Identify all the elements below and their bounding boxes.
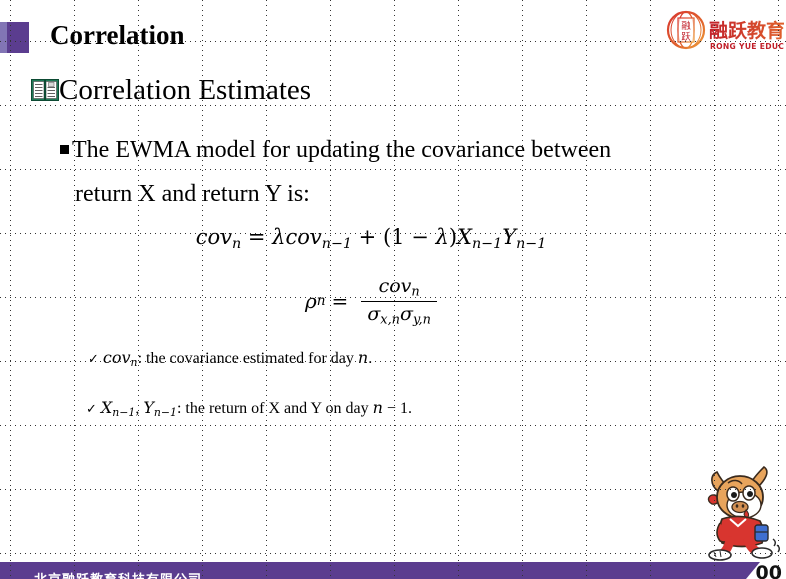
bullet-line-1: The EWMA model for updating the covarian… [60,128,760,172]
eq2-numerator: covn [373,275,426,301]
eq1-lhs-base: cov [196,225,232,249]
sub-bullet-2: ✓Xn−1, Yn−1: the return of X and Y on da… [86,398,412,419]
open-book-icon [31,78,59,102]
logo-brand-cn: 融跃教育 [709,19,784,42]
eq2-den-s2-base: σ [400,303,413,325]
sub2-symbol1-sub: n−1 [112,406,135,419]
eq1-y-base: Y [502,225,516,249]
bullet-text-line-1: The EWMA model for updating the covarian… [72,128,611,172]
eq1-equals: = [248,225,266,249]
logo-seal-icon: 融 跃 [668,12,704,48]
sub2-tail: − 1 [383,400,408,417]
eq1-minus: − [411,225,429,249]
sub1-var: n [358,348,368,367]
brand-logo: 融 跃 融跃教育 RONG YUE EDUCATION [664,8,784,56]
footer-text: 北京融跃教育科技有限公司 [34,569,202,579]
bull-mascot [700,461,782,561]
sub1-period: . [368,350,372,367]
eq1-x-sub: n−1 [472,236,502,252]
square-bullet-icon [60,145,69,154]
eq2-num-base: cov [379,275,412,297]
title-accent-strip [0,22,7,53]
eq1-plus: + [359,225,377,249]
footer-bar: 北京融跃教育科技有限公司 [0,562,760,579]
eq2-denominator: σx,nσy,n [361,302,437,328]
eq1-term2-sub: n−1 [322,236,352,252]
eq2-fraction: covn σx,nσy,n [361,275,437,328]
page-title: Correlation [50,20,184,51]
eq2-lhs-base: ρ [305,289,317,313]
eq1-x-base: X [457,225,472,249]
title-accent-marker [0,22,29,53]
sub2-symbol1-base: X [101,398,112,417]
eq2-lhs-sub: n [317,293,326,309]
bullet-line-2: return X and return Y is: [60,172,760,216]
eq2-num-sub: n [411,285,419,300]
eq2-equals: = [332,289,349,313]
eq1-lhs-sub: n [232,236,241,252]
logo-brand-en: RONG YUE EDUCATION [710,42,784,51]
logo-seal-char-bottom: 跃 [681,32,691,43]
sub1-text: : the covariance estimated for day [138,350,358,367]
sub2-period: . [408,400,412,417]
eq1-term2-base: cov [285,225,321,249]
sub2-var: n [373,398,383,417]
eq2-den-s1-sub: x,n [380,313,400,328]
eq2-den-s2-sub: y,n [413,313,431,328]
eq1-lambda-2: λ [436,225,449,249]
eq1-lambda: λ [272,225,285,249]
sub2-symbol2-base: Y [143,398,154,417]
sub-bullet-1: ✓covn: the covariance estimated for day … [88,348,372,369]
equation-covariance: covn = λcovn−1 + (1 − λ)Xn−1Yn−1 [0,225,786,252]
section-heading: Correlation Estimates [59,74,311,107]
page-number: 00 [756,562,782,579]
equation-correlation: ρn = covn σx,nσy,n [0,275,786,328]
slide-canvas: Correlation [0,0,786,579]
sub2-symbol2-sub: n−1 [154,406,177,419]
eq2-den-s1-base: σ [367,303,380,325]
eq1-one: 1 [391,225,404,249]
sub2-text: : the return of X and Y on day [177,400,373,417]
logo-seal-char-top: 融 [681,21,691,32]
check-bullet-icon: ✓ [88,352,99,367]
eq1-y-sub: n−1 [516,236,546,252]
bullet-block: The EWMA model for updating the covarian… [60,128,760,216]
sub1-symbol-sub: n [131,356,138,369]
sub1-symbol-base: cov [103,348,131,367]
check-bullet-icon-2: ✓ [86,402,97,417]
